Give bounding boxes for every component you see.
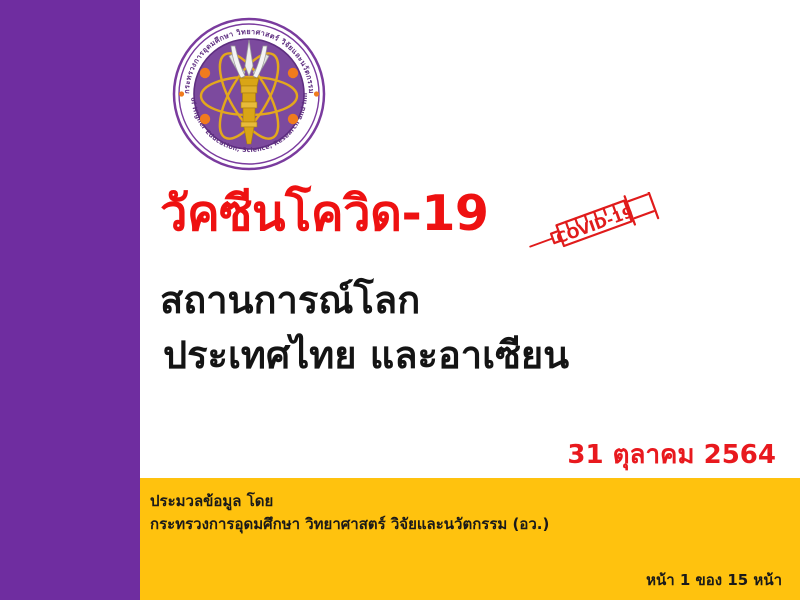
syringe-graphic: COVID-19	[520, 192, 670, 254]
left-purple-band	[0, 0, 140, 600]
slide-subtitle-line-1: สถานการณ์โลก	[160, 280, 420, 322]
slide-title-main: วัคซีนโควิด-19	[160, 188, 489, 239]
syringe-icon: COVID-19	[520, 192, 670, 254]
slide-subtitle-line-2: ประเทศไทย และอาเซียน	[163, 335, 569, 377]
slide-canvas: กระทรวงการอุดมศึกษา วิทยาศาสตร์ วิจัยและ…	[0, 0, 800, 600]
ministry-seal-icon: กระทรวงการอุดมศึกษา วิทยาศาสตร์ วิจัยและ…	[171, 16, 327, 172]
footer-credit-block: ประมวลข้อมูล โดย กระทรวงการอุดมศึกษา วิท…	[150, 490, 549, 537]
footer-credit-label: ประมวลข้อมูล โดย	[150, 490, 549, 513]
slide-date: 31 ตุลาคม 2564	[567, 434, 776, 475]
ministry-logo: กระทรวงการอุดมศึกษา วิทยาศาสตร์ วิจัยและ…	[171, 16, 327, 172]
page-indicator: หน้า 1 ของ 15 หน้า	[646, 568, 782, 592]
footer-organization: กระทรวงการอุดมศึกษา วิทยาศาสตร์ วิจัยและ…	[150, 513, 549, 536]
